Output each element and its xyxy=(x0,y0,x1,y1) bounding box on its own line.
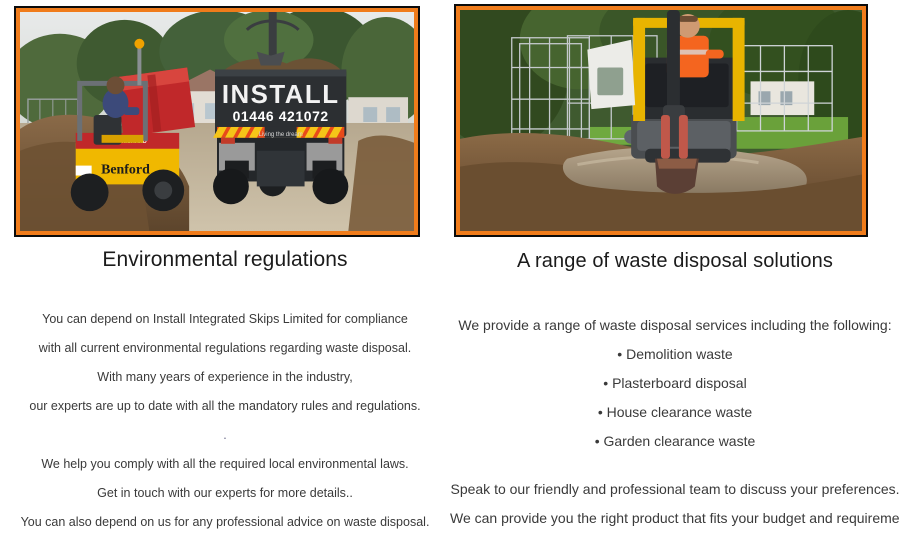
service-item-plasterboard: • Plasterboard disposal xyxy=(450,369,900,398)
dumper-truck-photo: INSTALL 01446 421072 xyxy=(20,12,414,231)
left-column: INSTALL 01446 421072 xyxy=(0,0,450,539)
services-intro-line: We provide a range of waste disposal ser… xyxy=(450,311,900,340)
truck-phone-text: 01446 421072 xyxy=(233,108,329,124)
left-body-copy: You can depend on Install Integrated Ski… xyxy=(0,305,450,537)
truck-slogan-text: Living the dream xyxy=(259,132,303,138)
truck-company-text: INSTALL xyxy=(222,81,340,109)
waste-disposal-photo-frame xyxy=(454,4,868,237)
right-section-heading: A range of waste disposal solutions xyxy=(450,250,900,273)
left-copy-line-1: You can depend on Install Integrated Ski… xyxy=(0,305,450,334)
service-item-house-clearance: • House clearance waste xyxy=(450,398,900,427)
environmental-regulations-photo-frame: INSTALL 01446 421072 xyxy=(14,6,420,237)
service-item-garden-clearance: • Garden clearance waste xyxy=(450,427,900,456)
mini-excavator-illustration xyxy=(460,10,862,231)
left-copy-line-6: Get in touch with our experts for more d… xyxy=(0,479,450,508)
right-copy-gap xyxy=(450,456,900,475)
right-body-copy: We provide a range of waste disposal ser… xyxy=(450,311,900,533)
dumper-brand-text: Benford xyxy=(101,163,150,178)
left-copy-line-3: With many years of experience in the ind… xyxy=(0,363,450,392)
right-column: A range of waste disposal solutions We p… xyxy=(450,0,900,539)
right-closing-line-2: We can provide you the right product tha… xyxy=(450,504,900,533)
left-copy-line-7: You can also depend on us for any profes… xyxy=(0,508,450,537)
service-item-demolition: • Demolition waste xyxy=(450,340,900,369)
left-copy-separator: . xyxy=(0,421,450,450)
dumper-truck-illustration: INSTALL 01446 421072 xyxy=(20,12,414,231)
page-root: INSTALL 01446 421072 xyxy=(0,0,900,539)
left-copy-line-2: with all current environmental regulatio… xyxy=(0,334,450,363)
mini-excavator-photo xyxy=(460,10,862,231)
left-section-heading: Environmental regulations xyxy=(0,248,450,272)
left-copy-line-4: our experts are up to date with all the … xyxy=(0,392,450,421)
right-closing-line-1: Speak to our friendly and professional t… xyxy=(450,475,900,504)
left-copy-line-5: We help you comply with all the required… xyxy=(0,450,450,479)
